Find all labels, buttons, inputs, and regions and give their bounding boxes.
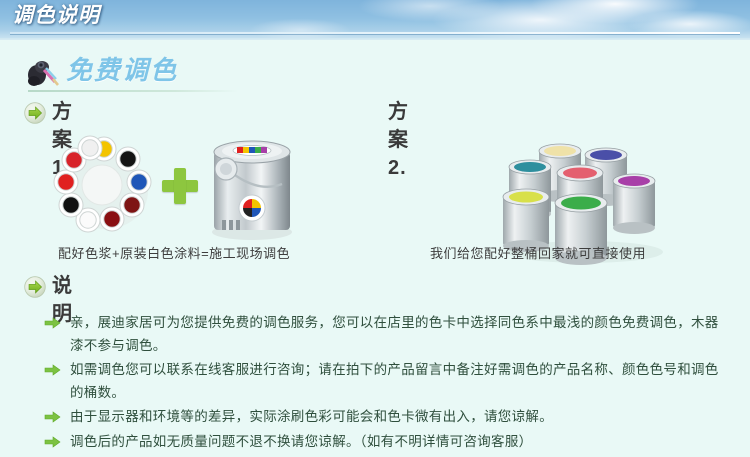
plus-sign-icon — [162, 168, 198, 204]
list-item: 如需调色您可以联系在线客服进行咨询；请在拍下的产品留言中备注好需调色的产品名称、… — [44, 359, 734, 404]
content-area: 免费调色 — [0, 40, 750, 457]
paint-can-image — [206, 132, 298, 242]
list-item-text: 如需调色您可以联系在线客服进行咨询；请在拍下的产品留言中备注好需调色的产品名称、… — [70, 359, 730, 404]
list-item-text: 由于显示器和环境等的差异，实际涂刷色彩可能会和色卡微有出入，请您谅解。 — [70, 406, 734, 429]
pigment-cups-image — [52, 135, 157, 235]
plan-2-label: 方案2. — [388, 98, 409, 182]
green-arrow-icon — [24, 276, 46, 298]
green-arrow-bullet-icon — [44, 363, 61, 377]
color-mixing-info-page: 调色说明 免费调色 — [0, 0, 750, 457]
list-item-text: 亲，展迪家居可为您提供免费的调色服务，您可以在店里的色卡中选择同色系中最浅的颜色… — [70, 312, 730, 357]
green-arrow-bullet-icon — [44, 410, 61, 424]
plan-1-caption: 配好色浆+原装白色涂料=施工现场调色 — [58, 245, 290, 263]
green-arrow-bullet-icon — [44, 316, 61, 330]
sky-header-banner: 调色说明 — [0, 0, 750, 40]
list-item-text: 调色后的产品如无质量问题不退不换请您谅解。（如有不明详情可咨询客服） — [70, 431, 734, 454]
free-coloring-heading: 免费调色 — [26, 54, 326, 92]
explanation-list: 亲，展迪家居可为您提供免费的调色服务，您可以在店里的色卡中选择同色系中最浅的颜色… — [44, 312, 734, 455]
green-arrow-bullet-icon — [44, 435, 61, 449]
green-arrow-icon — [24, 102, 46, 124]
plan-2-caption: 我们给您配好整桶回家就可直接使用 — [430, 245, 646, 263]
list-item: 由于显示器和环境等的差异，实际涂刷色彩可能会和色卡微有出入，请您谅解。 — [44, 406, 734, 429]
page-title: 调色说明 — [12, 4, 100, 28]
paint-roller-icon — [26, 57, 60, 87]
list-item: 调色后的产品如无质量问题不退不换请您谅解。（如有不明详情可咨询客服） — [44, 431, 734, 454]
free-coloring-underline — [28, 90, 238, 92]
header-divider — [10, 32, 740, 34]
free-coloring-title: 免费调色 — [66, 54, 178, 86]
list-item: 亲，展迪家居可为您提供免费的调色服务，您可以在店里的色卡中选择同色系中最浅的颜色… — [44, 312, 734, 357]
